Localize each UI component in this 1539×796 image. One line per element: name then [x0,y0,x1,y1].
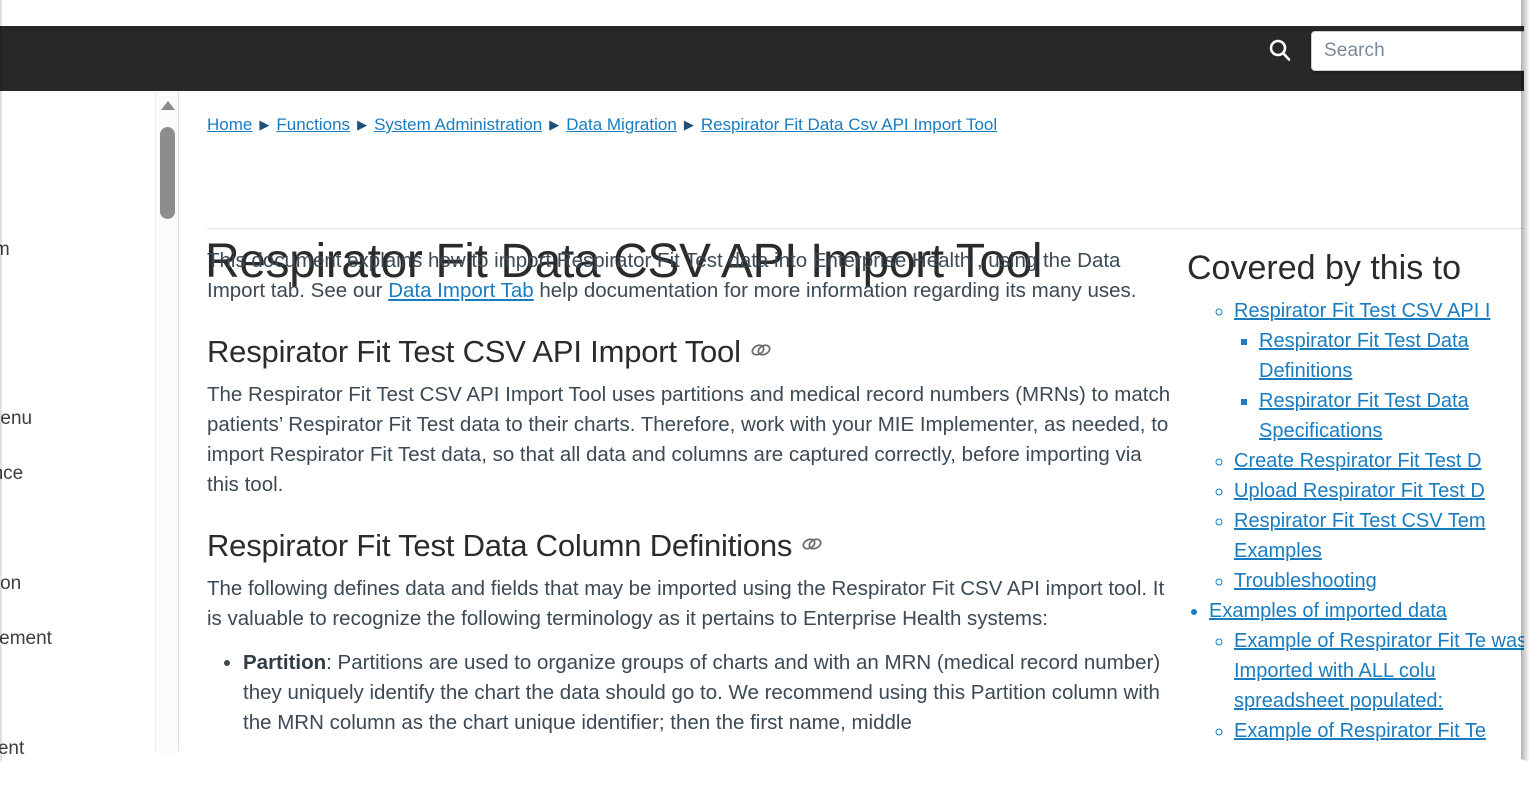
toc-item-example-all-columns: Example of Respirator Fit Te was Importe… [1234,626,1524,716]
intro-paragraph: This document explains how to import Res… [207,246,1172,306]
toc-link[interactable]: Example of Respirator Fit Te [1234,720,1486,742]
breadcrumb-item-current[interactable]: Respirator Fit Data Csv API Import Tool [701,115,997,134]
link-anchor-icon[interactable] [750,328,772,368]
definition-list: Partition: Partitions are used to organi… [207,648,1172,738]
left-sidebar: tem d emenu ence ation agement ment [0,91,179,796]
toc-group-1: Respirator Fit Test CSV API I Respirator… [1209,296,1524,596]
sidebar-item-2[interactable]: emenu [0,408,32,430]
screenshot-root: tem d emenu ence ation agement ment Home… [0,0,1539,796]
toc-item-csv-template-examples: Respirator Fit Test CSV Tem Examples [1234,506,1524,566]
sidebar-scrollbar[interactable] [155,91,178,796]
breadcrumb: Home▶Functions▶System Administration▶Dat… [207,115,997,136]
toc-link[interactable]: Respirator Fit Test CSV API I [1234,300,1490,322]
toc-group-2: Examples of imported data Example of Res… [1209,596,1524,746]
scrollbar-thumb[interactable] [160,127,175,219]
toc-item-example-2: Example of Respirator Fit Te [1234,716,1524,746]
section-heading-import-tool: Respirator Fit Test CSV API Import Tool [207,328,1172,372]
term-partition: Partition [243,651,326,674]
toc-list-level3: Respirator Fit Test Data Definitions Res… [1234,326,1524,446]
left-edge-shadow [0,0,2,796]
main-content: Home▶Functions▶System Administration▶Dat… [179,91,1524,796]
toc-link[interactable]: Troubleshooting [1234,570,1377,592]
term-partition-description: : Partitions are used to organize groups… [243,651,1160,734]
heading-text: Respirator Fit Test Data Column Definiti… [207,528,792,563]
paragraph-column-definitions: The following defines data and fields th… [207,574,1172,634]
breadcrumb-separator-icon: ▶ [549,115,559,135]
breadcrumb-separator-icon: ▶ [259,115,269,135]
right-edge-shadow [1521,0,1530,796]
section-heading-column-definitions: Respirator Fit Test Data Column Definiti… [207,522,1172,566]
heading-text: Respirator Fit Test CSV API Import Tool [207,334,741,369]
sidebar-item-4[interactable]: ation [0,573,21,595]
intro-text-part2: help documentation for more information … [534,279,1137,302]
toc-item-troubleshooting: Troubleshooting [1234,566,1524,596]
breadcrumb-item-data-migration[interactable]: Data Migration [566,115,677,134]
scroll-up-arrow-icon[interactable] [161,101,175,110]
search-placeholder: Search [1312,40,1385,62]
toc-title: Covered by this to [1187,246,1524,290]
toc-item-data-specifications: Respirator Fit Test Data Specifications [1259,386,1524,446]
toc-link[interactable]: Respirator Fit Test Data Specifications [1259,390,1469,442]
data-import-tab-link[interactable]: Data Import Tab [388,279,533,302]
link-anchor-icon[interactable] [801,522,823,562]
breadcrumb-separator-icon: ▶ [684,115,694,135]
toc-list-level2: Respirator Fit Test CSV API I Respirator… [1209,296,1524,596]
title-divider [207,228,1524,229]
sidebar-item-5[interactable]: agement [0,628,52,650]
table-of-contents: Covered by this to Respirator Fit Test C… [1187,246,1524,746]
breadcrumb-item-system-administration[interactable]: System Administration [374,115,542,134]
toc-link[interactable]: Respirator Fit Test Data Definitions [1259,330,1469,382]
toc-item-csv-api-import-tool: Respirator Fit Test CSV API I Respirator… [1234,296,1524,446]
toc-item-data-definitions: Respirator Fit Test Data Definitions [1259,326,1524,386]
article-body: This document explains how to import Res… [207,246,1172,742]
torn-top-edge [0,0,1539,26]
toc-item-upload-data: Upload Respirator Fit Test D [1234,476,1524,506]
toc-list-level2-group2: Example of Respirator Fit Te was Importe… [1209,626,1524,746]
search-icon[interactable] [1266,36,1294,64]
sidebar-nav-list: tem d emenu ence ation agement ment [0,91,155,796]
toc-link[interactable]: Respirator Fit Test CSV Tem Examples [1234,510,1486,562]
sidebar-item-6[interactable]: ment [0,738,24,760]
toc-link[interactable]: Create Respirator Fit Test D [1234,450,1482,472]
search-input[interactable]: Search [1311,31,1539,71]
toc-link[interactable]: Upload Respirator Fit Test D [1234,480,1485,502]
page-body: tem d emenu ence ation agement ment Home… [0,91,1539,796]
paragraph-import-tool: The Respirator Fit Test CSV API Import T… [207,380,1172,500]
breadcrumb-item-home[interactable]: Home [207,115,252,134]
breadcrumb-separator-icon: ▶ [357,115,367,135]
list-item: Partition: Partitions are used to organi… [243,648,1172,738]
breadcrumb-item-functions[interactable]: Functions [276,115,350,134]
toc-list-level1: Respirator Fit Test CSV API I Respirator… [1187,296,1524,746]
toc-link[interactable]: Example of Respirator Fit Te was Importe… [1234,630,1524,712]
sidebar-item-3[interactable]: ence [0,463,23,485]
toc-item-create-data: Create Respirator Fit Test D [1234,446,1524,476]
toc-link[interactable]: Examples of imported data [1209,600,1447,622]
